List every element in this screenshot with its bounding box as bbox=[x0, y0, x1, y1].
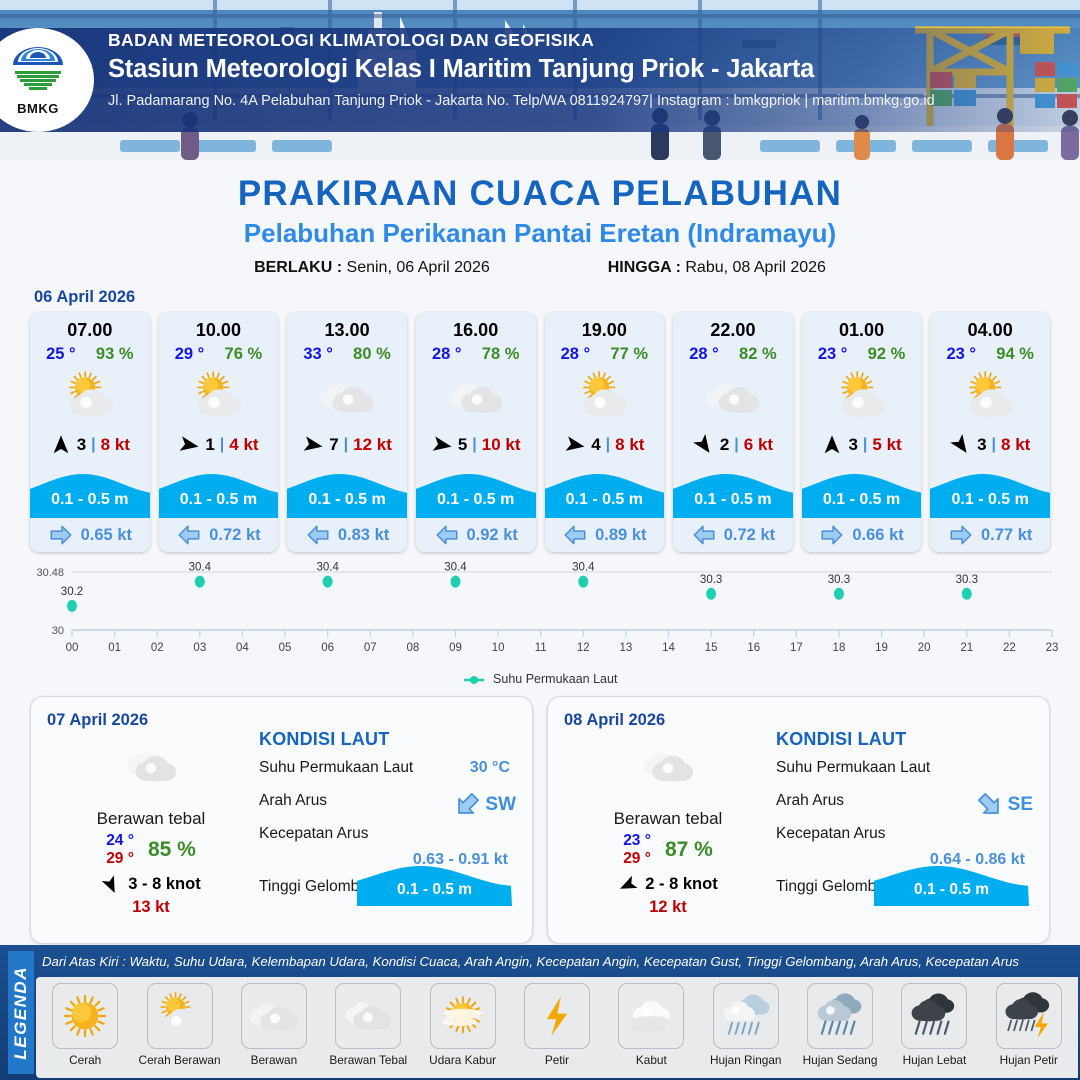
card-wind-row: 1 | 4 kt bbox=[159, 428, 279, 462]
card-gust-speed: 6 kt bbox=[744, 435, 773, 455]
chart-xtick-label: 07 bbox=[364, 642, 377, 654]
card-time: 07.00 bbox=[30, 312, 150, 341]
chart-xtick-label: 18 bbox=[833, 642, 846, 654]
legend-item-label: Cerah Berawan bbox=[132, 1053, 226, 1067]
sst-chart-svg: 30.4830000102030405060708091011121314151… bbox=[0, 560, 1080, 670]
day-wave-height: 0.1 - 0.5 m bbox=[874, 881, 1029, 899]
card-time: 22.00 bbox=[673, 312, 793, 341]
card-wave-section: 0.1 - 0.5 m bbox=[673, 462, 793, 518]
wind-direction-arrow-icon bbox=[564, 434, 586, 456]
card-humidity: 80 % bbox=[353, 345, 391, 364]
validity-period: BERLAKU : Senin, 06 April 2026 HINGGA : … bbox=[0, 259, 1080, 277]
wind-direction-arrow-icon bbox=[302, 434, 324, 456]
weather-icon-cerah-berawan bbox=[152, 988, 208, 1044]
chart-legend-marker-icon bbox=[463, 675, 485, 685]
card-current-row: 0.65 kt bbox=[30, 518, 150, 552]
legend-item-icon-box bbox=[430, 983, 496, 1049]
card-wave-section: 0.1 - 0.5 m bbox=[545, 462, 665, 518]
wave-graphic-icon bbox=[287, 462, 407, 518]
day-left-block: Berawan tebal 23 ° 29 ° 87 % 2 - 8 knot … bbox=[568, 737, 768, 917]
card-temperature: 33 ° bbox=[303, 345, 333, 364]
chart-point-label: 30.4 bbox=[189, 562, 212, 574]
card-wave-height: 0.1 - 0.5 m bbox=[930, 491, 1050, 509]
chart-ytick-max: 30.48 bbox=[36, 567, 64, 579]
weather-icon-udara-kabur bbox=[435, 988, 491, 1044]
day-date: 07 April 2026 bbox=[47, 711, 516, 730]
card-temperature: 28 ° bbox=[432, 345, 462, 364]
card-temp-humidity-row: 28 ° 82 % bbox=[673, 341, 793, 364]
sst-row: Suhu Permukaan Laut bbox=[776, 759, 1035, 783]
legend-item-label: Hujan Petir bbox=[982, 1053, 1076, 1067]
card-wind-speed: 7 bbox=[329, 435, 338, 455]
forecast-card: 01.00 23 ° 92 % 3 | 5 kt bbox=[802, 312, 922, 552]
sst-chart: 30.4830000102030405060708091011121314151… bbox=[0, 560, 1080, 670]
card-wind-speed: 3 bbox=[977, 435, 986, 455]
chart-data-point bbox=[962, 588, 972, 600]
card-time: 10.00 bbox=[159, 312, 279, 341]
day-weather-icon bbox=[568, 737, 768, 797]
chart-xtick-label: 01 bbox=[108, 642, 121, 654]
header-banner: BMKG BADAN METEOROLOGI KLIMATOLOGI DAN G… bbox=[0, 0, 1080, 160]
weather-icon-hujan-lebat bbox=[906, 988, 962, 1044]
card-humidity: 76 % bbox=[225, 345, 263, 364]
wind-direction-arrow-icon bbox=[950, 434, 972, 456]
card-time: 01.00 bbox=[802, 312, 922, 341]
day-gust: 13 kt bbox=[51, 898, 251, 917]
day-date: 08 April 2026 bbox=[564, 711, 1033, 730]
forecast-card: 07.00 25 ° 93 % 3 | 8 kt bbox=[30, 312, 150, 552]
card-weather-icon bbox=[30, 366, 150, 428]
current-direction-label: Arah Arus bbox=[259, 792, 327, 809]
card-time: 19.00 bbox=[545, 312, 665, 341]
day-wind-row: 3 - 8 knot bbox=[51, 875, 251, 895]
card-separator: | bbox=[344, 436, 348, 454]
card-temperature: 23 ° bbox=[946, 345, 976, 364]
legend-item-icon-box bbox=[147, 983, 213, 1049]
day-temp-min: 24 ° bbox=[106, 832, 134, 850]
valid-to-value: Rabu, 08 April 2026 bbox=[685, 259, 826, 276]
legend-section: LEGENDA Dari Atas Kiri : Waktu, Suhu Uda… bbox=[0, 945, 1080, 1080]
wave-graphic-icon bbox=[673, 462, 793, 518]
legend-item: Udara Kabur bbox=[415, 983, 509, 1067]
chart-xtick-label: 16 bbox=[747, 642, 760, 654]
card-humidity: 82 % bbox=[739, 345, 777, 364]
legend-item: Cerah bbox=[38, 983, 132, 1067]
day-humidity: 87 % bbox=[665, 838, 713, 862]
legend-item-label: Cerah bbox=[38, 1053, 132, 1067]
weather-icon-cerah-berawan bbox=[60, 367, 120, 427]
card-separator: | bbox=[220, 436, 224, 454]
day-temp-max: 29 ° bbox=[623, 850, 651, 868]
card-separator: | bbox=[91, 436, 95, 454]
sea-conditions-title: KONDISI LAUT bbox=[259, 729, 518, 750]
current-direction-arrow-icon bbox=[305, 522, 331, 548]
card-humidity: 93 % bbox=[96, 345, 134, 364]
chart-point-label: 30.3 bbox=[828, 574, 850, 586]
chart-data-point bbox=[323, 576, 333, 588]
card-temp-humidity-row: 29 ° 76 % bbox=[159, 341, 279, 364]
forecast-card: 16.00 28 ° 78 % 5 | 10 kt bbox=[416, 312, 536, 552]
chart-point-label: 30.3 bbox=[956, 574, 978, 586]
legend-item-label: Petir bbox=[510, 1053, 604, 1067]
card-temperature: 28 ° bbox=[689, 345, 719, 364]
legend-item: Hujan Ringan bbox=[699, 983, 793, 1067]
day-condition: Berawan tebal bbox=[51, 809, 251, 829]
legend-item: Kabut bbox=[604, 983, 698, 1067]
wave-graphic-icon bbox=[802, 462, 922, 518]
chart-xtick-label: 05 bbox=[279, 642, 292, 654]
legend-item-icon-box bbox=[241, 983, 307, 1049]
card-humidity: 78 % bbox=[482, 345, 520, 364]
card-wave-section: 0.1 - 0.5 m bbox=[802, 462, 922, 518]
forecast-card: 19.00 28 ° 77 % 4 | 8 kt bbox=[545, 312, 665, 552]
card-time: 16.00 bbox=[416, 312, 536, 341]
wave-graphic-icon bbox=[416, 462, 536, 518]
contact-info: Jl. Padamarang No. 4A Pelabuhan Tanjung … bbox=[108, 93, 935, 109]
card-current-row: 0.89 kt bbox=[545, 518, 665, 552]
card-wind-row: 5 | 10 kt bbox=[416, 428, 536, 462]
bmkg-emblem-icon bbox=[9, 45, 67, 95]
weather-icon-cerah-berawan bbox=[960, 367, 1020, 427]
chart-xtick-label: 15 bbox=[705, 642, 718, 654]
weather-icon-cerah-berawan bbox=[188, 367, 248, 427]
chart-xtick-label: 23 bbox=[1046, 642, 1059, 654]
weather-icon-berawan bbox=[317, 367, 377, 427]
legend-note: Dari Atas Kiri : Waktu, Suhu Udara, Kele… bbox=[42, 954, 1074, 969]
day-sea-conditions: KONDISI LAUT Suhu Permukaan Laut 30 °C A… bbox=[259, 729, 518, 902]
card-current-row: 0.83 kt bbox=[287, 518, 407, 552]
card-gust-speed: 4 kt bbox=[229, 435, 258, 455]
card-current-row: 0.77 kt bbox=[930, 518, 1050, 552]
legend-item-icon-box bbox=[996, 983, 1062, 1049]
wind-direction-arrow-icon bbox=[693, 434, 715, 456]
card-wind-speed: 1 bbox=[205, 435, 214, 455]
card-temp-humidity-row: 23 ° 92 % bbox=[802, 341, 922, 364]
card-gust-speed: 8 kt bbox=[1001, 435, 1030, 455]
card-weather-icon bbox=[673, 366, 793, 428]
card-humidity: 77 % bbox=[610, 345, 648, 364]
card-weather-icon bbox=[930, 366, 1050, 428]
legend-item: Cerah Berawan bbox=[132, 983, 226, 1067]
card-wind-speed: 3 bbox=[848, 435, 857, 455]
card-current-speed: 0.92 kt bbox=[467, 526, 518, 545]
card-wave-section: 0.1 - 0.5 m bbox=[30, 462, 150, 518]
legend-item-icon-box bbox=[807, 983, 873, 1049]
legend-item-label: Kabut bbox=[604, 1053, 698, 1067]
wave-graphic-icon bbox=[930, 462, 1050, 518]
chart-point-label: 30.3 bbox=[700, 574, 722, 586]
weather-icon-cerah-berawan bbox=[574, 367, 634, 427]
wind-direction-arrow-icon bbox=[618, 875, 638, 895]
sst-label: Suhu Permukaan Laut bbox=[259, 759, 413, 776]
weather-icon-hujan-petir bbox=[1001, 988, 1057, 1044]
card-temperature: 23 ° bbox=[818, 345, 848, 364]
card-temperature: 25 ° bbox=[46, 345, 76, 364]
agency-name: BADAN METEOROLOGI KLIMATOLOGI DAN GEOFIS… bbox=[108, 30, 935, 51]
card-current-row: 0.72 kt bbox=[159, 518, 279, 552]
card-weather-icon bbox=[545, 366, 665, 428]
card-weather-icon bbox=[802, 366, 922, 428]
chart-xtick-label: 06 bbox=[321, 642, 334, 654]
card-wind-row: 3 | 8 kt bbox=[930, 428, 1050, 462]
chart-xtick-label: 08 bbox=[406, 642, 419, 654]
card-wind-row: 4 | 8 kt bbox=[545, 428, 665, 462]
day-wave-graphic: 0.1 - 0.5 m bbox=[357, 854, 512, 906]
day-humidity: 85 % bbox=[148, 838, 196, 862]
wind-direction-arrow-icon bbox=[50, 434, 72, 456]
wave-graphic-icon bbox=[30, 462, 150, 518]
chart-xtick-label: 17 bbox=[790, 642, 803, 654]
chart-point-label: 30.4 bbox=[444, 562, 467, 574]
card-time: 13.00 bbox=[287, 312, 407, 341]
current-speed-row: Kecepatan Arus bbox=[259, 825, 518, 849]
day-temp-max: 29 ° bbox=[106, 850, 134, 868]
valid-to: HINGGA : Rabu, 08 April 2026 bbox=[608, 259, 826, 277]
card-wave-section: 0.1 - 0.5 m bbox=[416, 462, 536, 518]
chart-legend-label: Suhu Permukaan Laut bbox=[493, 672, 617, 686]
sea-conditions-title: KONDISI LAUT bbox=[776, 729, 1035, 750]
forecast-card: 10.00 29 ° 76 % 1 | 4 kt bbox=[159, 312, 279, 552]
chart-point-label: 30.4 bbox=[316, 562, 339, 574]
day-wave-height: 0.1 - 0.5 m bbox=[357, 881, 512, 899]
card-separator: | bbox=[734, 436, 738, 454]
wind-direction-arrow-icon bbox=[178, 434, 200, 456]
card-wind-row: 2 | 6 kt bbox=[673, 428, 793, 462]
card-humidity: 94 % bbox=[996, 345, 1034, 364]
chart-data-point bbox=[195, 576, 205, 588]
weather-icon-kabut bbox=[623, 988, 679, 1044]
card-weather-icon bbox=[159, 366, 279, 428]
day-left-block: Berawan tebal 24 ° 29 ° 85 % 3 - 8 knot … bbox=[51, 737, 251, 917]
chart-xtick-label: 20 bbox=[918, 642, 931, 654]
chart-xtick-label: 02 bbox=[151, 642, 164, 654]
card-temp-humidity-row: 28 ° 77 % bbox=[545, 341, 665, 364]
chart-xtick-label: 19 bbox=[875, 642, 888, 654]
valid-from-value: Senin, 06 April 2026 bbox=[347, 259, 490, 276]
current-direction-arrow-icon bbox=[691, 522, 717, 548]
card-wave-section: 0.1 - 0.5 m bbox=[159, 462, 279, 518]
weather-icon-berawan bbox=[703, 367, 763, 427]
legend-item: Petir bbox=[510, 983, 604, 1067]
card-wave-height: 0.1 - 0.5 m bbox=[802, 491, 922, 509]
day-sea-conditions: KONDISI LAUT Suhu Permukaan Laut Arah Ar… bbox=[776, 729, 1035, 902]
card-wind-row: 3 | 8 kt bbox=[30, 428, 150, 462]
card-wind-speed: 2 bbox=[720, 435, 729, 455]
day-temperature-block: 24 ° 29 ° 85 % bbox=[51, 832, 251, 869]
card-temperature: 29 ° bbox=[175, 345, 205, 364]
card-wind-speed: 4 bbox=[591, 435, 600, 455]
day-temperature-block: 23 ° 29 ° 87 % bbox=[568, 832, 768, 869]
legend-item: Berawan bbox=[227, 983, 321, 1067]
legend-item-label: Hujan Lebat bbox=[887, 1053, 981, 1067]
current-direction-label: Arah Arus bbox=[776, 792, 844, 809]
wave-graphic-icon bbox=[159, 462, 279, 518]
weather-icon-cerah-berawan bbox=[832, 367, 892, 427]
chart-xtick-label: 12 bbox=[577, 642, 590, 654]
bmkg-logo-text: BMKG bbox=[7, 101, 69, 116]
card-gust-speed: 10 kt bbox=[482, 435, 521, 455]
card-temp-humidity-row: 25 ° 93 % bbox=[30, 341, 150, 364]
legend-item: Hujan Petir bbox=[982, 983, 1076, 1067]
day-gust: 12 kt bbox=[568, 898, 768, 917]
sst-value: 30 °C bbox=[470, 759, 510, 777]
day-wind-range: 2 - 8 knot bbox=[645, 875, 717, 894]
wave-graphic-icon bbox=[545, 462, 665, 518]
chart-xtick-label: 11 bbox=[535, 642, 547, 654]
legend-item-icon-box bbox=[901, 983, 967, 1049]
legend-item: Hujan Lebat bbox=[887, 983, 981, 1067]
current-direction-row: Arah Arus SW bbox=[259, 792, 518, 816]
forecast-card: 22.00 28 ° 82 % 2 | 6 kt bbox=[673, 312, 793, 552]
chart-point-label: 30.4 bbox=[572, 562, 595, 574]
page-subtitle: Pelabuhan Perikanan Pantai Eretan (Indra… bbox=[0, 218, 1080, 249]
weather-icon-berawan-tebal bbox=[340, 988, 396, 1044]
day-summary-card: 07 April 2026 Berawan tebal 24 ° 29 ° 85… bbox=[30, 696, 533, 944]
chart-data-point bbox=[834, 588, 844, 600]
card-current-speed: 0.83 kt bbox=[338, 526, 389, 545]
current-direction-arrow-icon bbox=[948, 522, 974, 548]
weather-icon-berawan bbox=[446, 367, 506, 427]
wind-direction-arrow-icon bbox=[431, 434, 453, 456]
chart-xtick-label: 04 bbox=[236, 642, 249, 654]
current-direction-row: Arah Arus SE bbox=[776, 792, 1035, 816]
current-direction-arrow-icon bbox=[48, 522, 74, 548]
legend-item-label: Hujan Sedang bbox=[793, 1053, 887, 1067]
card-current-row: 0.92 kt bbox=[416, 518, 536, 552]
legend-item-icon-box bbox=[52, 983, 118, 1049]
card-weather-icon bbox=[287, 366, 407, 428]
legend-tab: LEGENDA bbox=[8, 951, 34, 1074]
card-current-speed: 0.72 kt bbox=[724, 526, 775, 545]
card-wind-row: 7 | 12 kt bbox=[287, 428, 407, 462]
station-name: Stasiun Meteorologi Kelas I Maritim Tanj… bbox=[108, 55, 935, 84]
card-current-row: 0.66 kt bbox=[802, 518, 922, 552]
current-direction-value: SE bbox=[975, 790, 1033, 820]
chart-ytick-min: 30 bbox=[52, 625, 64, 637]
valid-from: BERLAKU : Senin, 06 April 2026 bbox=[254, 259, 490, 277]
card-current-row: 0.72 kt bbox=[673, 518, 793, 552]
card-gust-speed: 8 kt bbox=[615, 435, 644, 455]
legend-item: Berawan Tebal bbox=[321, 983, 415, 1067]
card-gust-speed: 12 kt bbox=[353, 435, 392, 455]
day-condition: Berawan tebal bbox=[568, 809, 768, 829]
legend-item-label: Berawan Tebal bbox=[321, 1053, 415, 1067]
current-speed-label: Kecepatan Arus bbox=[776, 825, 885, 842]
weather-icon-hujan-sedang bbox=[812, 988, 868, 1044]
card-current-speed: 0.66 kt bbox=[852, 526, 903, 545]
day-wind-row: 2 - 8 knot bbox=[568, 875, 768, 895]
daily-summary-cards: 07 April 2026 Berawan tebal 24 ° 29 ° 85… bbox=[0, 686, 1080, 944]
card-temp-humidity-row: 28 ° 78 % bbox=[416, 341, 536, 364]
card-temp-humidity-row: 33 ° 80 % bbox=[287, 341, 407, 364]
current-direction-arrow-icon bbox=[819, 522, 845, 548]
card-wave-height: 0.1 - 0.5 m bbox=[287, 491, 407, 509]
wind-direction-arrow-icon bbox=[101, 875, 121, 895]
card-wind-speed: 5 bbox=[458, 435, 467, 455]
current-direction-arrow-icon bbox=[434, 522, 460, 548]
current-direction-arrow-icon bbox=[562, 522, 588, 548]
legend-item-icon-box bbox=[618, 983, 684, 1049]
chart-data-point bbox=[67, 600, 77, 612]
card-weather-icon bbox=[416, 366, 536, 428]
chart-xtick-label: 00 bbox=[66, 642, 79, 654]
card-temperature: 28 ° bbox=[561, 345, 591, 364]
card-separator: | bbox=[606, 436, 610, 454]
card-gust-speed: 8 kt bbox=[101, 435, 130, 455]
card-temp-humidity-row: 23 ° 94 % bbox=[930, 341, 1050, 364]
weather-icon-hujan-ringan bbox=[718, 988, 774, 1044]
card-current-speed: 0.72 kt bbox=[209, 526, 260, 545]
current-direction-arrow-icon bbox=[452, 790, 482, 820]
card-wind-speed: 3 bbox=[77, 435, 86, 455]
card-time: 04.00 bbox=[930, 312, 1050, 341]
card-current-speed: 0.65 kt bbox=[81, 526, 132, 545]
valid-to-label: HINGGA : bbox=[608, 259, 681, 276]
chart-data-point bbox=[450, 576, 460, 588]
valid-from-label: BERLAKU : bbox=[254, 259, 342, 276]
chart-legend: Suhu Permukaan Laut bbox=[0, 672, 1080, 686]
sst-label: Suhu Permukaan Laut bbox=[776, 759, 930, 776]
chart-xtick-label: 14 bbox=[662, 642, 675, 654]
card-humidity: 92 % bbox=[868, 345, 906, 364]
current-direction-value: SW bbox=[452, 790, 516, 820]
card-wind-row: 3 | 5 kt bbox=[802, 428, 922, 462]
forecast-date-label: 06 April 2026 bbox=[34, 288, 1080, 307]
forecast-card: 13.00 33 ° 80 % 7 | 12 kt bbox=[287, 312, 407, 552]
legend-item-label: Berawan bbox=[227, 1053, 321, 1067]
chart-xtick-label: 22 bbox=[1003, 642, 1016, 654]
card-current-speed: 0.77 kt bbox=[981, 526, 1032, 545]
legend-item-label: Hujan Ringan bbox=[699, 1053, 793, 1067]
legend-item-icon-box bbox=[713, 983, 779, 1049]
day-weather-icon bbox=[51, 737, 251, 797]
card-wave-section: 0.1 - 0.5 m bbox=[930, 462, 1050, 518]
header-text-block: BADAN METEOROLOGI KLIMATOLOGI DAN GEOFIS… bbox=[108, 30, 935, 109]
card-current-speed: 0.89 kt bbox=[595, 526, 646, 545]
card-gust-speed: 5 kt bbox=[872, 435, 901, 455]
legend-item: Hujan Sedang bbox=[793, 983, 887, 1067]
wind-direction-arrow-icon bbox=[821, 434, 843, 456]
chart-point-label: 30.2 bbox=[61, 586, 83, 598]
current-direction-arrow-icon bbox=[176, 522, 202, 548]
card-wave-height: 0.1 - 0.5 m bbox=[545, 491, 665, 509]
day-summary-card: 08 April 2026 Berawan tebal 23 ° 29 ° 87… bbox=[547, 696, 1050, 944]
card-wave-height: 0.1 - 0.5 m bbox=[159, 491, 279, 509]
chart-xtick-label: 10 bbox=[492, 642, 505, 654]
day-wind-range: 3 - 8 knot bbox=[128, 875, 200, 894]
legend-item-label: Udara Kabur bbox=[415, 1053, 509, 1067]
day-temp-min: 23 ° bbox=[623, 832, 651, 850]
chart-xtick-label: 21 bbox=[960, 642, 973, 654]
day-wave-graphic: 0.1 - 0.5 m bbox=[874, 854, 1029, 906]
weather-icon-berawan-tebal bbox=[638, 737, 698, 797]
current-speed-row: Kecepatan Arus bbox=[776, 825, 1035, 849]
sst-row: Suhu Permukaan Laut 30 °C bbox=[259, 759, 518, 783]
card-separator: | bbox=[992, 436, 996, 454]
weather-icon-petir bbox=[529, 988, 585, 1044]
hourly-forecast-cards: 07.00 25 ° 93 % 3 | 8 kt bbox=[0, 312, 1080, 552]
chart-xtick-label: 03 bbox=[193, 642, 206, 654]
current-direction-text: SE bbox=[1008, 794, 1033, 816]
legend-tab-label: LEGENDA bbox=[11, 966, 31, 1060]
card-wave-height: 0.1 - 0.5 m bbox=[673, 491, 793, 509]
forecast-card: 04.00 23 ° 94 % 3 | 8 kt bbox=[930, 312, 1050, 552]
chart-xtick-label: 09 bbox=[449, 642, 462, 654]
card-separator: | bbox=[472, 436, 476, 454]
card-wave-height: 0.1 - 0.5 m bbox=[416, 491, 536, 509]
card-wave-height: 0.1 - 0.5 m bbox=[30, 491, 150, 509]
card-wave-section: 0.1 - 0.5 m bbox=[287, 462, 407, 518]
